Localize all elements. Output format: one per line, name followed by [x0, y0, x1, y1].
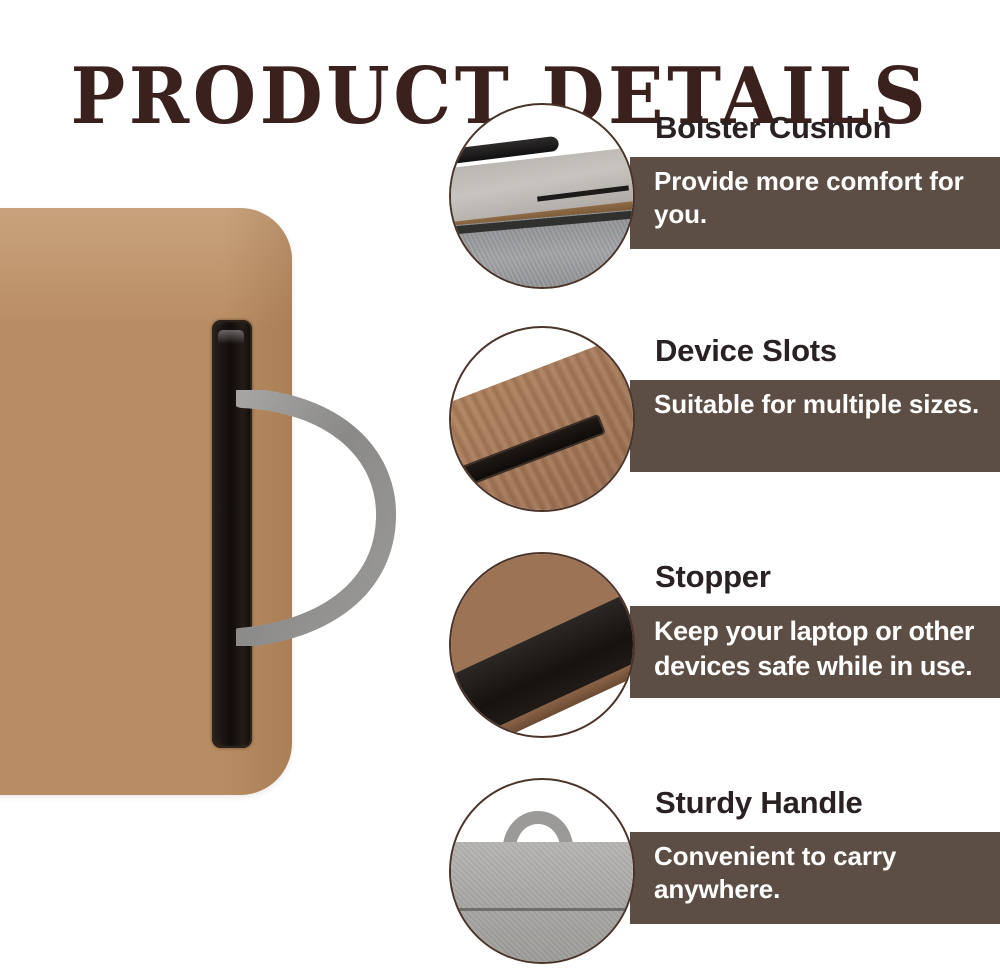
feature-image-stopper	[449, 552, 635, 738]
feature-description: Keep your laptop or other devices safe w…	[654, 614, 1000, 684]
feature-title: Device Slots	[655, 332, 837, 370]
feature-title: Sturdy Handle	[655, 784, 863, 822]
feature-description: Convenient to carry anywhere.	[654, 840, 994, 906]
feature-image-bolster-cushion	[449, 103, 635, 289]
feature-title: Stopper	[655, 558, 771, 596]
bag-seam	[449, 908, 635, 911]
board-highlight	[0, 208, 292, 328]
product-photo	[0, 180, 420, 820]
feature-description: Suitable for multiple sizes.	[654, 388, 994, 421]
feature-title: Bolster Cushion	[655, 109, 891, 147]
fabric-handle-loop	[236, 390, 446, 646]
feature-image-sturdy-handle	[449, 778, 635, 964]
bag-body	[449, 842, 635, 964]
feature-description: Provide more comfort for you.	[654, 165, 994, 231]
slot-highlight	[218, 330, 244, 344]
wood-surface	[449, 330, 635, 512]
feature-image-device-slots	[449, 326, 635, 512]
product-details-infographic: PRODUCT DETAILS	[0, 0, 1000, 971]
